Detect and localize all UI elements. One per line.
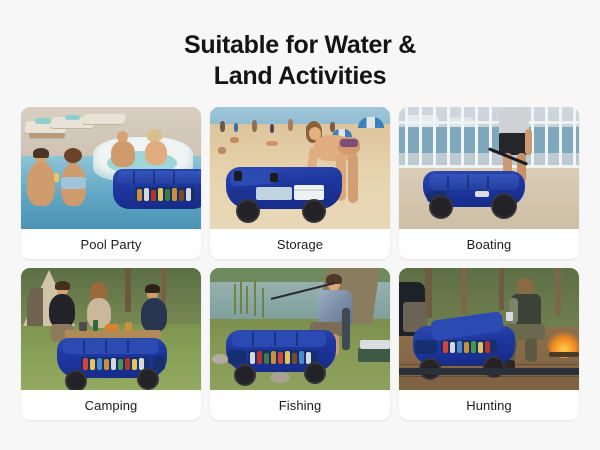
activity-label-storage: Storage: [210, 229, 390, 259]
firewood: [549, 352, 579, 357]
drink-can: [271, 351, 276, 364]
cooler-rib: [467, 175, 469, 189]
beachgoer-lying: [218, 147, 226, 154]
drink-can: [257, 351, 262, 364]
drink-can: [457, 341, 462, 353]
drink-can: [450, 342, 455, 353]
drink-can: [278, 352, 283, 364]
drink-can: [144, 188, 149, 201]
cooler-rib: [447, 175, 449, 189]
cooler-wheel: [234, 364, 256, 386]
lounger: [82, 114, 126, 124]
tent-opening: [27, 288, 43, 326]
tree-trunk: [555, 268, 561, 316]
beachgoer: [234, 123, 238, 132]
activity-photo-fishing: [210, 268, 390, 390]
person-body: [145, 141, 167, 165]
drink-can: [125, 358, 130, 370]
tree-trunk: [461, 268, 467, 314]
cooler-rib: [83, 340, 85, 353]
cooler-rib: [173, 171, 175, 184]
camp-chair: [342, 308, 350, 350]
cooler-lid: [117, 171, 201, 184]
cooler-rib: [274, 332, 276, 346]
person-body: [141, 298, 167, 332]
activity-label-boating: Boating: [399, 229, 579, 259]
person-leg: [348, 153, 358, 203]
cup-holder: [153, 356, 165, 370]
tailgate-edge: [399, 368, 579, 375]
reed: [262, 288, 264, 318]
activity-photo-boating: [399, 107, 579, 229]
person-hair: [55, 281, 70, 290]
cooler-wheel: [137, 368, 159, 390]
cooler-rib: [127, 340, 129, 353]
page-title-line-2: Land Activities: [0, 61, 600, 92]
activity-photo-camping: [21, 268, 201, 390]
person-body: [27, 162, 55, 206]
reed: [246, 286, 248, 314]
drink-can: [132, 359, 137, 370]
rail-post: [475, 107, 478, 167]
drink-can: [83, 358, 88, 370]
drink-cup: [125, 322, 132, 331]
person-body: [49, 294, 75, 328]
person-leg: [525, 338, 537, 362]
drink-can: [471, 341, 476, 353]
swimsuit: [61, 177, 86, 189]
rail-post: [545, 107, 548, 167]
beachgoer: [252, 120, 257, 132]
thermos: [93, 320, 98, 331]
beachgoer: [220, 121, 225, 132]
cooler-wheel: [236, 199, 260, 223]
activity-label-pool-party: Pool Party: [21, 229, 201, 259]
person-hair: [147, 129, 162, 141]
beachgoer: [270, 124, 274, 133]
deck-plank-line: [399, 364, 579, 365]
drink-can: [118, 359, 123, 370]
activity-card-hunting[interactable]: Hunting: [399, 268, 579, 420]
rail-post: [573, 107, 576, 167]
cooler-product: [113, 169, 201, 209]
rock: [212, 354, 228, 364]
cooler-bin: [135, 187, 195, 201]
activity-photo-storage: [210, 107, 390, 229]
lounger-cushion: [65, 115, 80, 120]
rail-post: [433, 107, 436, 167]
cooler-wheel: [491, 193, 517, 219]
swimsuit: [340, 139, 358, 147]
tackle-box: [358, 348, 390, 362]
cooler-latch: [234, 171, 242, 181]
person-hair: [64, 148, 82, 163]
rail-post: [461, 107, 464, 167]
activity-label-hunting: Hunting: [399, 390, 579, 420]
drink-can: [292, 353, 297, 364]
drink-glass: [54, 173, 59, 182]
camp-pot: [79, 322, 87, 331]
person-body: [111, 141, 135, 167]
towel-fold-line: [294, 189, 324, 191]
rail-post: [489, 107, 492, 167]
cup-holder: [415, 340, 437, 354]
cooler-rib: [133, 171, 135, 184]
cooler-bin: [81, 357, 149, 370]
drink-can: [151, 190, 156, 201]
drink-can: [285, 351, 290, 364]
tree-trunk: [125, 268, 131, 312]
drink-can: [172, 188, 177, 201]
drink-can: [464, 342, 469, 353]
cooler-lid: [429, 174, 519, 190]
drink-cup: [506, 312, 513, 321]
tackle-box-lid: [360, 340, 390, 349]
page-title-line-1: Suitable for Water &: [0, 30, 600, 61]
cooler-lid-open: [232, 331, 326, 347]
cooler-rib: [153, 171, 155, 184]
cooler-lid-open: [63, 339, 159, 354]
activity-card-camping[interactable]: Camping: [21, 268, 201, 420]
activity-card-storage[interactable]: Storage: [210, 107, 390, 259]
activity-card-boating[interactable]: Boating: [399, 107, 579, 259]
cooler-wheel: [65, 370, 87, 390]
activity-photo-hunting: [399, 268, 579, 390]
rail-post: [405, 107, 408, 167]
activity-label-fishing: Fishing: [210, 390, 390, 420]
drink-can: [97, 358, 102, 370]
drink-can: [137, 189, 142, 201]
drink-can: [299, 351, 304, 364]
drink-can: [158, 188, 163, 201]
cooler-rib: [252, 332, 254, 346]
person-arm: [525, 129, 532, 155]
rail-post: [559, 107, 562, 167]
cooler-latch: [270, 173, 278, 182]
drink-can: [485, 341, 490, 353]
food-plate: [105, 324, 119, 331]
activity-card-fishing[interactable]: Fishing: [210, 268, 390, 420]
cooler-wheel: [429, 195, 453, 219]
cooler-bin: [441, 340, 497, 353]
reed: [240, 280, 242, 314]
drink-can: [478, 342, 483, 353]
activity-card-pool-party[interactable]: Pool Party: [21, 107, 201, 259]
person-hair: [517, 278, 534, 294]
activities-page: Suitable for Water & Land Activities: [0, 0, 600, 450]
page-title: Suitable for Water & Land Activities: [0, 0, 600, 91]
cooler-wheel: [304, 362, 326, 384]
tree-trunk: [499, 268, 504, 310]
activity-label-camping: Camping: [21, 390, 201, 420]
drink-can: [104, 359, 109, 370]
person-hair: [145, 284, 160, 293]
drink-can: [165, 189, 170, 201]
drink-can: [90, 359, 95, 370]
cooler-badge: [475, 191, 489, 197]
rail-post: [447, 107, 450, 167]
beachgoer-lying: [266, 141, 278, 146]
cooler-bin: [248, 350, 318, 364]
drink-can: [186, 188, 191, 201]
activity-card-grid: Pool Party: [21, 91, 579, 420]
rock: [270, 372, 290, 383]
drink-can: [264, 353, 269, 364]
beachgoer: [288, 119, 293, 131]
person-hair: [33, 148, 49, 158]
beach-umbrella: [358, 117, 384, 128]
cup-holder: [228, 350, 246, 364]
deck-plank-line: [399, 376, 579, 377]
cooler-rib: [105, 340, 107, 353]
drink-can: [250, 352, 255, 364]
cooler-rib: [296, 332, 298, 346]
cooler-wheel: [302, 199, 326, 223]
folded-towel: [256, 187, 292, 200]
drink-can: [443, 341, 448, 353]
beachgoer-lying: [230, 137, 239, 143]
camp-table: [65, 330, 161, 338]
drink-can: [111, 358, 116, 370]
drink-can: [179, 190, 184, 201]
folded-towel: [294, 185, 324, 200]
reed: [254, 278, 256, 316]
activity-photo-pool-party: [21, 107, 201, 229]
cooler-rib: [487, 175, 489, 189]
rail-post: [419, 107, 422, 167]
reed: [234, 284, 236, 314]
lounger-cushion: [35, 118, 51, 124]
lounger-leg: [29, 133, 65, 138]
